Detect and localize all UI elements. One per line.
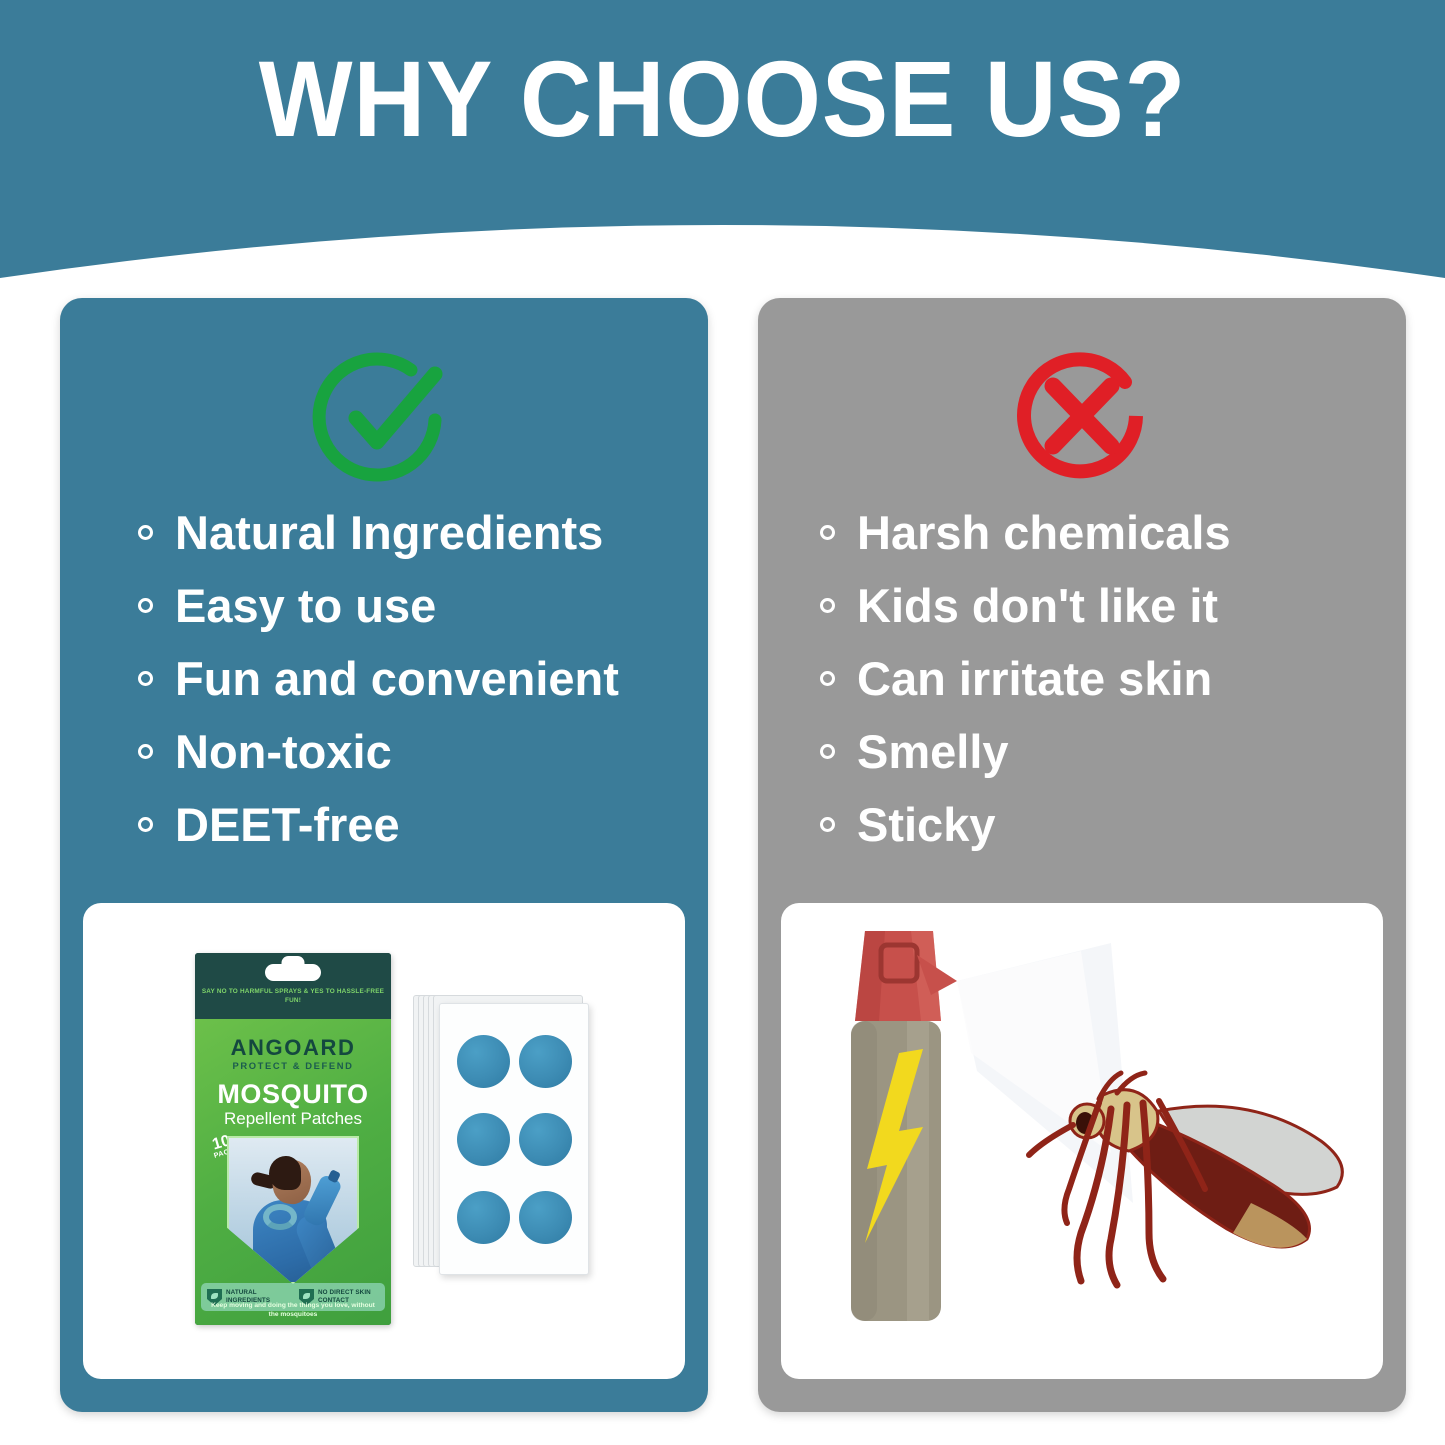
list-item-label: Kids don't like it	[857, 580, 1218, 632]
patch-dot	[457, 1191, 510, 1244]
package-lifestyle-photo	[227, 1136, 359, 1284]
list-item-label: Natural Ingredients	[175, 507, 603, 559]
list-item-label: Can irritate skin	[857, 653, 1212, 705]
product-photo-panel: SAY NO TO HARMFUL SPRAYS & YES TO HASSLE…	[83, 903, 685, 1379]
patch-sheet-front	[439, 1003, 589, 1275]
package-footer-text: Keep moving and doing the things you lov…	[195, 1301, 391, 1319]
package-front: ANGOARD PROTECT & DEFEND MOSQUITO Repell…	[195, 1019, 391, 1325]
product-name: MOSQUITO	[195, 1079, 391, 1110]
product-scene: SAY NO TO HARMFUL SPRAYS & YES TO HASSLE…	[83, 903, 685, 1379]
photo-headphones	[263, 1204, 297, 1230]
bullet-circle-icon	[820, 671, 835, 686]
list-item: DEET-free	[138, 788, 708, 861]
cons-card: Harsh chemicals Kids don't like it Can i…	[758, 298, 1406, 1412]
list-item: Non-toxic	[138, 715, 708, 788]
patch-sheet-stack	[413, 995, 593, 1275]
bullet-circle-icon	[820, 525, 835, 540]
list-item: Sticky	[820, 788, 1406, 861]
patch-dot	[519, 1035, 572, 1088]
list-item-label: Smelly	[857, 726, 1009, 778]
patch-dot	[519, 1113, 572, 1166]
list-item-label: Harsh chemicals	[857, 507, 1231, 559]
bullet-circle-icon	[138, 598, 153, 613]
patch-dot	[457, 1113, 510, 1166]
package-hang-top: SAY NO TO HARMFUL SPRAYS & YES TO HASSLE…	[195, 953, 391, 1019]
package-tagline: SAY NO TO HARMFUL SPRAYS & YES TO HASSLE…	[195, 988, 391, 1005]
poster-root: WHY CHOOSE US? Natural Ingredients Easy …	[0, 0, 1445, 1445]
list-item: Harsh chemicals	[820, 496, 1406, 569]
bullet-circle-icon	[820, 744, 835, 759]
bullet-circle-icon	[138, 525, 153, 540]
brand-tagline: PROTECT & DEFEND	[195, 1060, 391, 1071]
pros-list: Natural Ingredients Easy to use Fun and …	[60, 496, 708, 861]
spray-scene	[781, 903, 1383, 1379]
patch-dot	[519, 1191, 572, 1244]
hang-hole-icon	[265, 964, 321, 981]
bullet-circle-icon	[138, 671, 153, 686]
list-item-label: Non-toxic	[175, 726, 392, 778]
list-item-label: Fun and convenient	[175, 653, 619, 705]
page-title: WHY CHOOSE US?	[58, 44, 1387, 154]
list-item: Natural Ingredients	[138, 496, 708, 569]
red-cross-circle-icon	[997, 342, 1167, 492]
pros-card: Natural Ingredients Easy to use Fun and …	[60, 298, 708, 1412]
list-item: Can irritate skin	[820, 642, 1406, 715]
product-subtitle: Repellent Patches	[195, 1109, 391, 1129]
patch-dot	[457, 1035, 510, 1088]
photo-hair	[269, 1156, 301, 1190]
bullet-circle-icon	[820, 817, 835, 832]
list-item: Kids don't like it	[820, 569, 1406, 642]
can-body-shadow	[851, 1021, 877, 1321]
list-item: Fun and convenient	[138, 642, 708, 715]
cons-list: Harsh chemicals Kids don't like it Can i…	[758, 496, 1406, 861]
brand-name: ANGOARD	[195, 1035, 391, 1061]
list-item: Smelly	[820, 715, 1406, 788]
list-item: Easy to use	[138, 569, 708, 642]
list-item-label: DEET-free	[175, 799, 400, 851]
bullet-circle-icon	[138, 744, 153, 759]
bullet-circle-icon	[138, 817, 153, 832]
green-check-circle-icon	[299, 342, 469, 492]
list-item-label: Easy to use	[175, 580, 436, 632]
bullet-circle-icon	[820, 598, 835, 613]
product-package: SAY NO TO HARMFUL SPRAYS & YES TO HASSLE…	[195, 953, 391, 1325]
list-item-label: Sticky	[857, 799, 995, 851]
spray-photo-panel	[781, 903, 1383, 1379]
